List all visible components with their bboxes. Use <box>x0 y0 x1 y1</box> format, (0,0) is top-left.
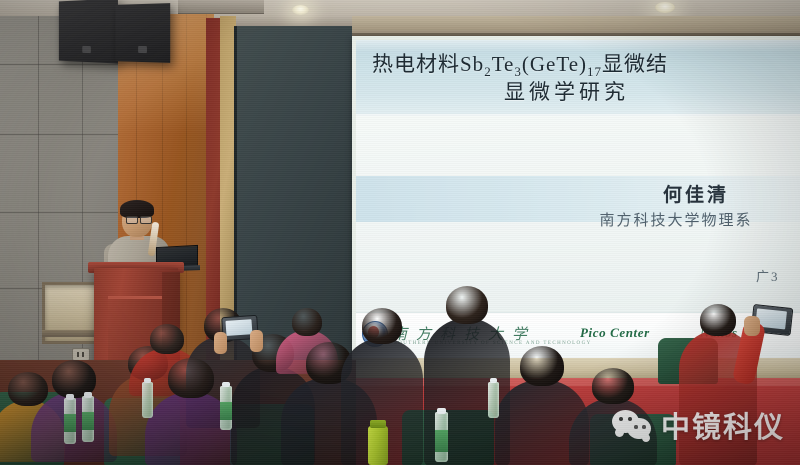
slide-venue-note: 广3 <box>756 266 780 285</box>
presenter-name: 何佳清 <box>596 180 796 207</box>
hand-right <box>744 316 760 336</box>
audience-member-head <box>292 308 322 336</box>
water-bottle-label <box>220 402 232 420</box>
title-formula-sb: Sb <box>460 52 484 76</box>
water-bottle-label <box>64 414 76 432</box>
wechat-icon <box>612 408 654 442</box>
projection-screen: 热电材料Sb2Te3(GeTe)17显微结 显微学研究 何佳清 南方科技大学物理… <box>356 40 800 358</box>
speaker-glasses-left <box>126 216 138 224</box>
water-bottle-cap <box>222 382 230 387</box>
hand-holding-phone <box>214 332 227 354</box>
water-bottle <box>142 382 153 418</box>
wall-opening-ledge <box>42 330 94 337</box>
audience-member-head <box>446 286 488 324</box>
audience-member-head <box>8 372 48 406</box>
water-bottle-label <box>435 430 448 452</box>
audience-member-head <box>592 368 634 404</box>
title-cn-prefix: 热电材料 <box>372 52 460 76</box>
audience-member-head <box>520 346 564 386</box>
ceiling-light-icon <box>292 5 309 15</box>
hand-holding-phone-2 <box>250 330 263 352</box>
title-formula-gete: (GeTe) <box>522 52 587 76</box>
water-bottle-cap <box>437 408 446 414</box>
watermark-text: 中镜科仪 <box>661 404 785 446</box>
audience-member-head <box>168 358 214 398</box>
ceiling-vent <box>178 0 264 14</box>
title-cn-suffix: 显微结 <box>602 52 668 76</box>
audience-member-head <box>362 308 402 344</box>
title-formula-te: Te <box>492 52 515 76</box>
presenter-affiliation: 南方科技大学物理系 <box>556 209 796 230</box>
slide-title-line2: 显微学研究 <box>504 76 629 106</box>
speaker-glasses-right <box>140 216 152 224</box>
pico-center-logo: Pico Center <box>580 325 650 341</box>
green-thermos <box>368 426 388 465</box>
watermark: 中镜科仪 <box>612 404 785 446</box>
audience-member-head <box>700 304 736 336</box>
water-bottle-label <box>82 412 94 430</box>
loudspeaker-right <box>115 3 170 63</box>
photo-scene: 热电材料Sb2Te3(GeTe)17显微结 显微学研究 何佳清 南方科技大学物理… <box>0 0 800 465</box>
water-bottle-cap <box>490 378 497 383</box>
ceiling-light-icon-2 <box>655 2 675 13</box>
title-formula-sb-sub: 2 <box>484 64 492 79</box>
water-bottle-cap <box>66 394 74 400</box>
audience-member-head <box>150 324 184 354</box>
loudspeaker-left <box>59 0 118 64</box>
water-bottle <box>488 382 499 418</box>
water-bottle-cap <box>144 378 151 383</box>
water-bottle-cap <box>84 392 92 398</box>
